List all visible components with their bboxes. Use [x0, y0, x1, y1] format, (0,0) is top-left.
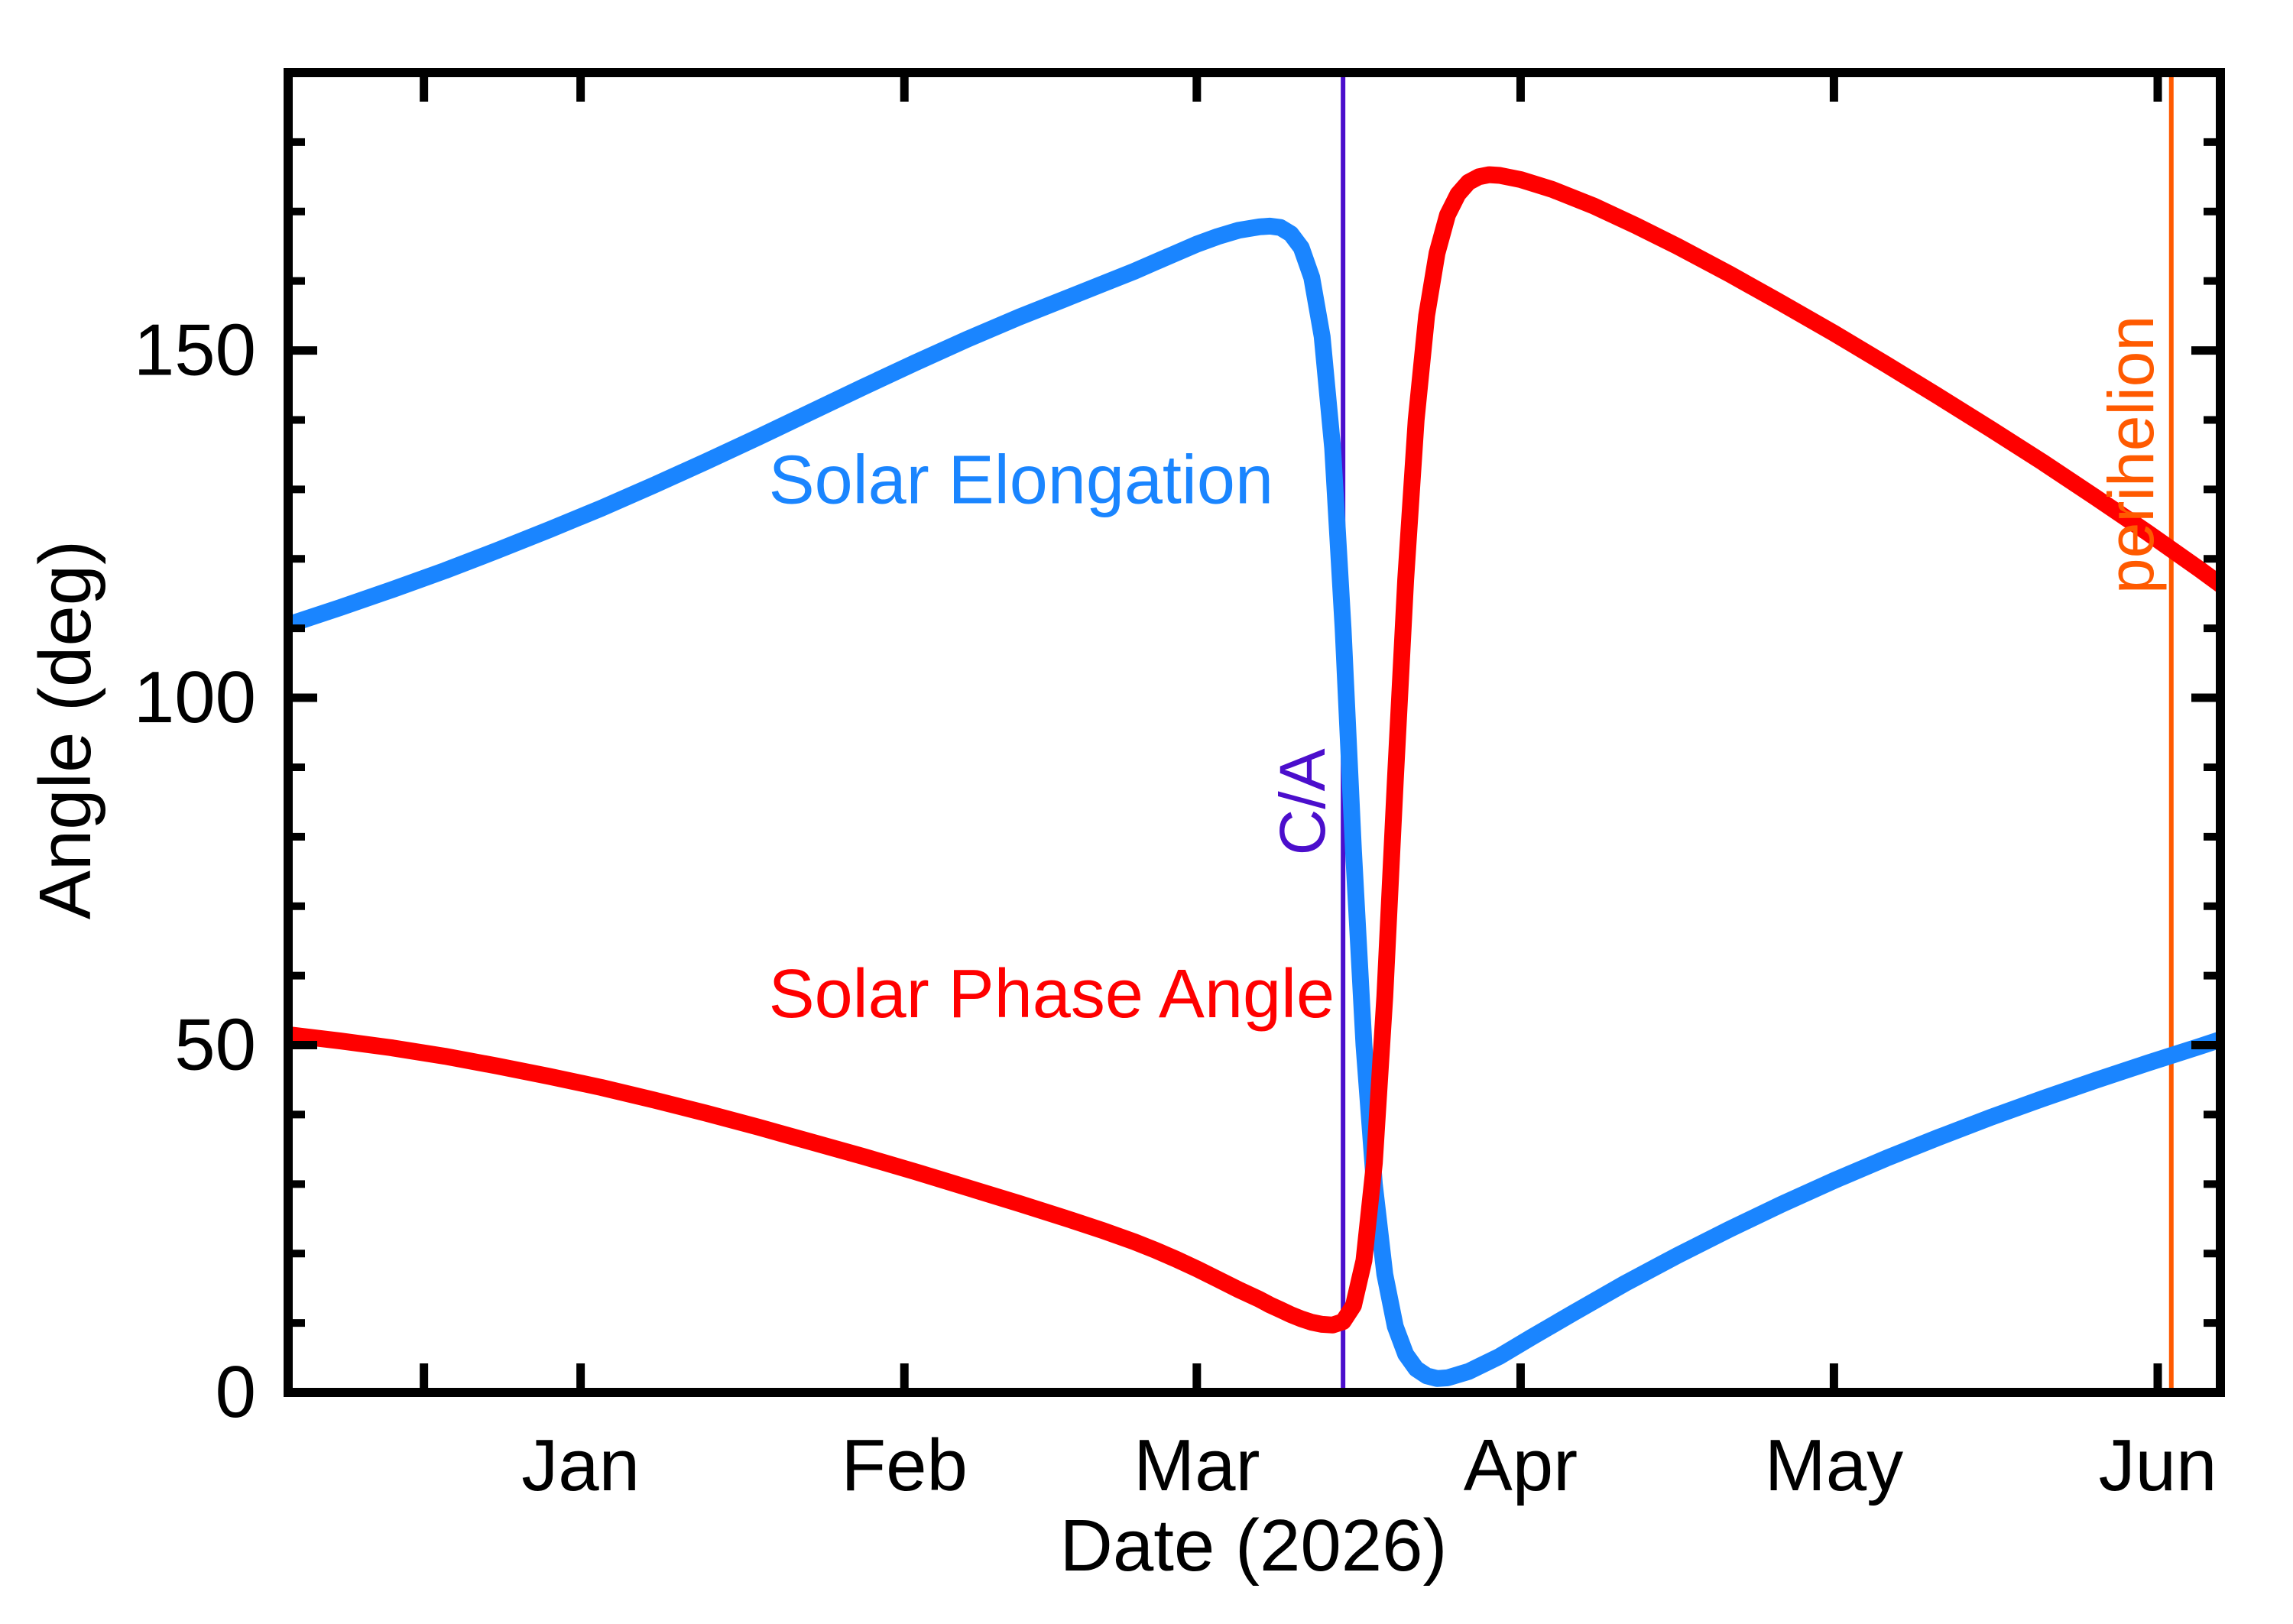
x-tick-label: Mar [1134, 1425, 1260, 1506]
y-tick-label: 100 [134, 656, 256, 738]
x-tick-label: Jan [521, 1425, 640, 1506]
series-label-1: Solar Elongation [769, 442, 1273, 519]
chart-figure: 050100150JanFebMarAprMayJun Solar Elonga… [0, 0, 2293, 1624]
x-axis-title: Date (2026) [1060, 1505, 1448, 1587]
y-tick-label: 150 [134, 310, 256, 391]
closest-approach-label: C/A [1267, 748, 1338, 855]
x-tick-label: Feb [842, 1425, 968, 1506]
y-tick-label: 50 [174, 1004, 256, 1086]
x-tick-label: Jun [2099, 1425, 2217, 1506]
series-label-2: Solar Phase Angle [769, 956, 1335, 1032]
figure-background [0, 0, 2293, 1624]
y-tick-label: 0 [216, 1351, 256, 1433]
x-tick-label: May [1765, 1425, 1903, 1506]
y-axis-title: Angle (deg) [24, 540, 106, 919]
x-tick-label: Apr [1464, 1425, 1578, 1506]
perihelion-label: perihelion [2095, 316, 2167, 594]
solar-geometry-chart: 050100150JanFebMarAprMayJun Solar Elonga… [0, 0, 2293, 1624]
